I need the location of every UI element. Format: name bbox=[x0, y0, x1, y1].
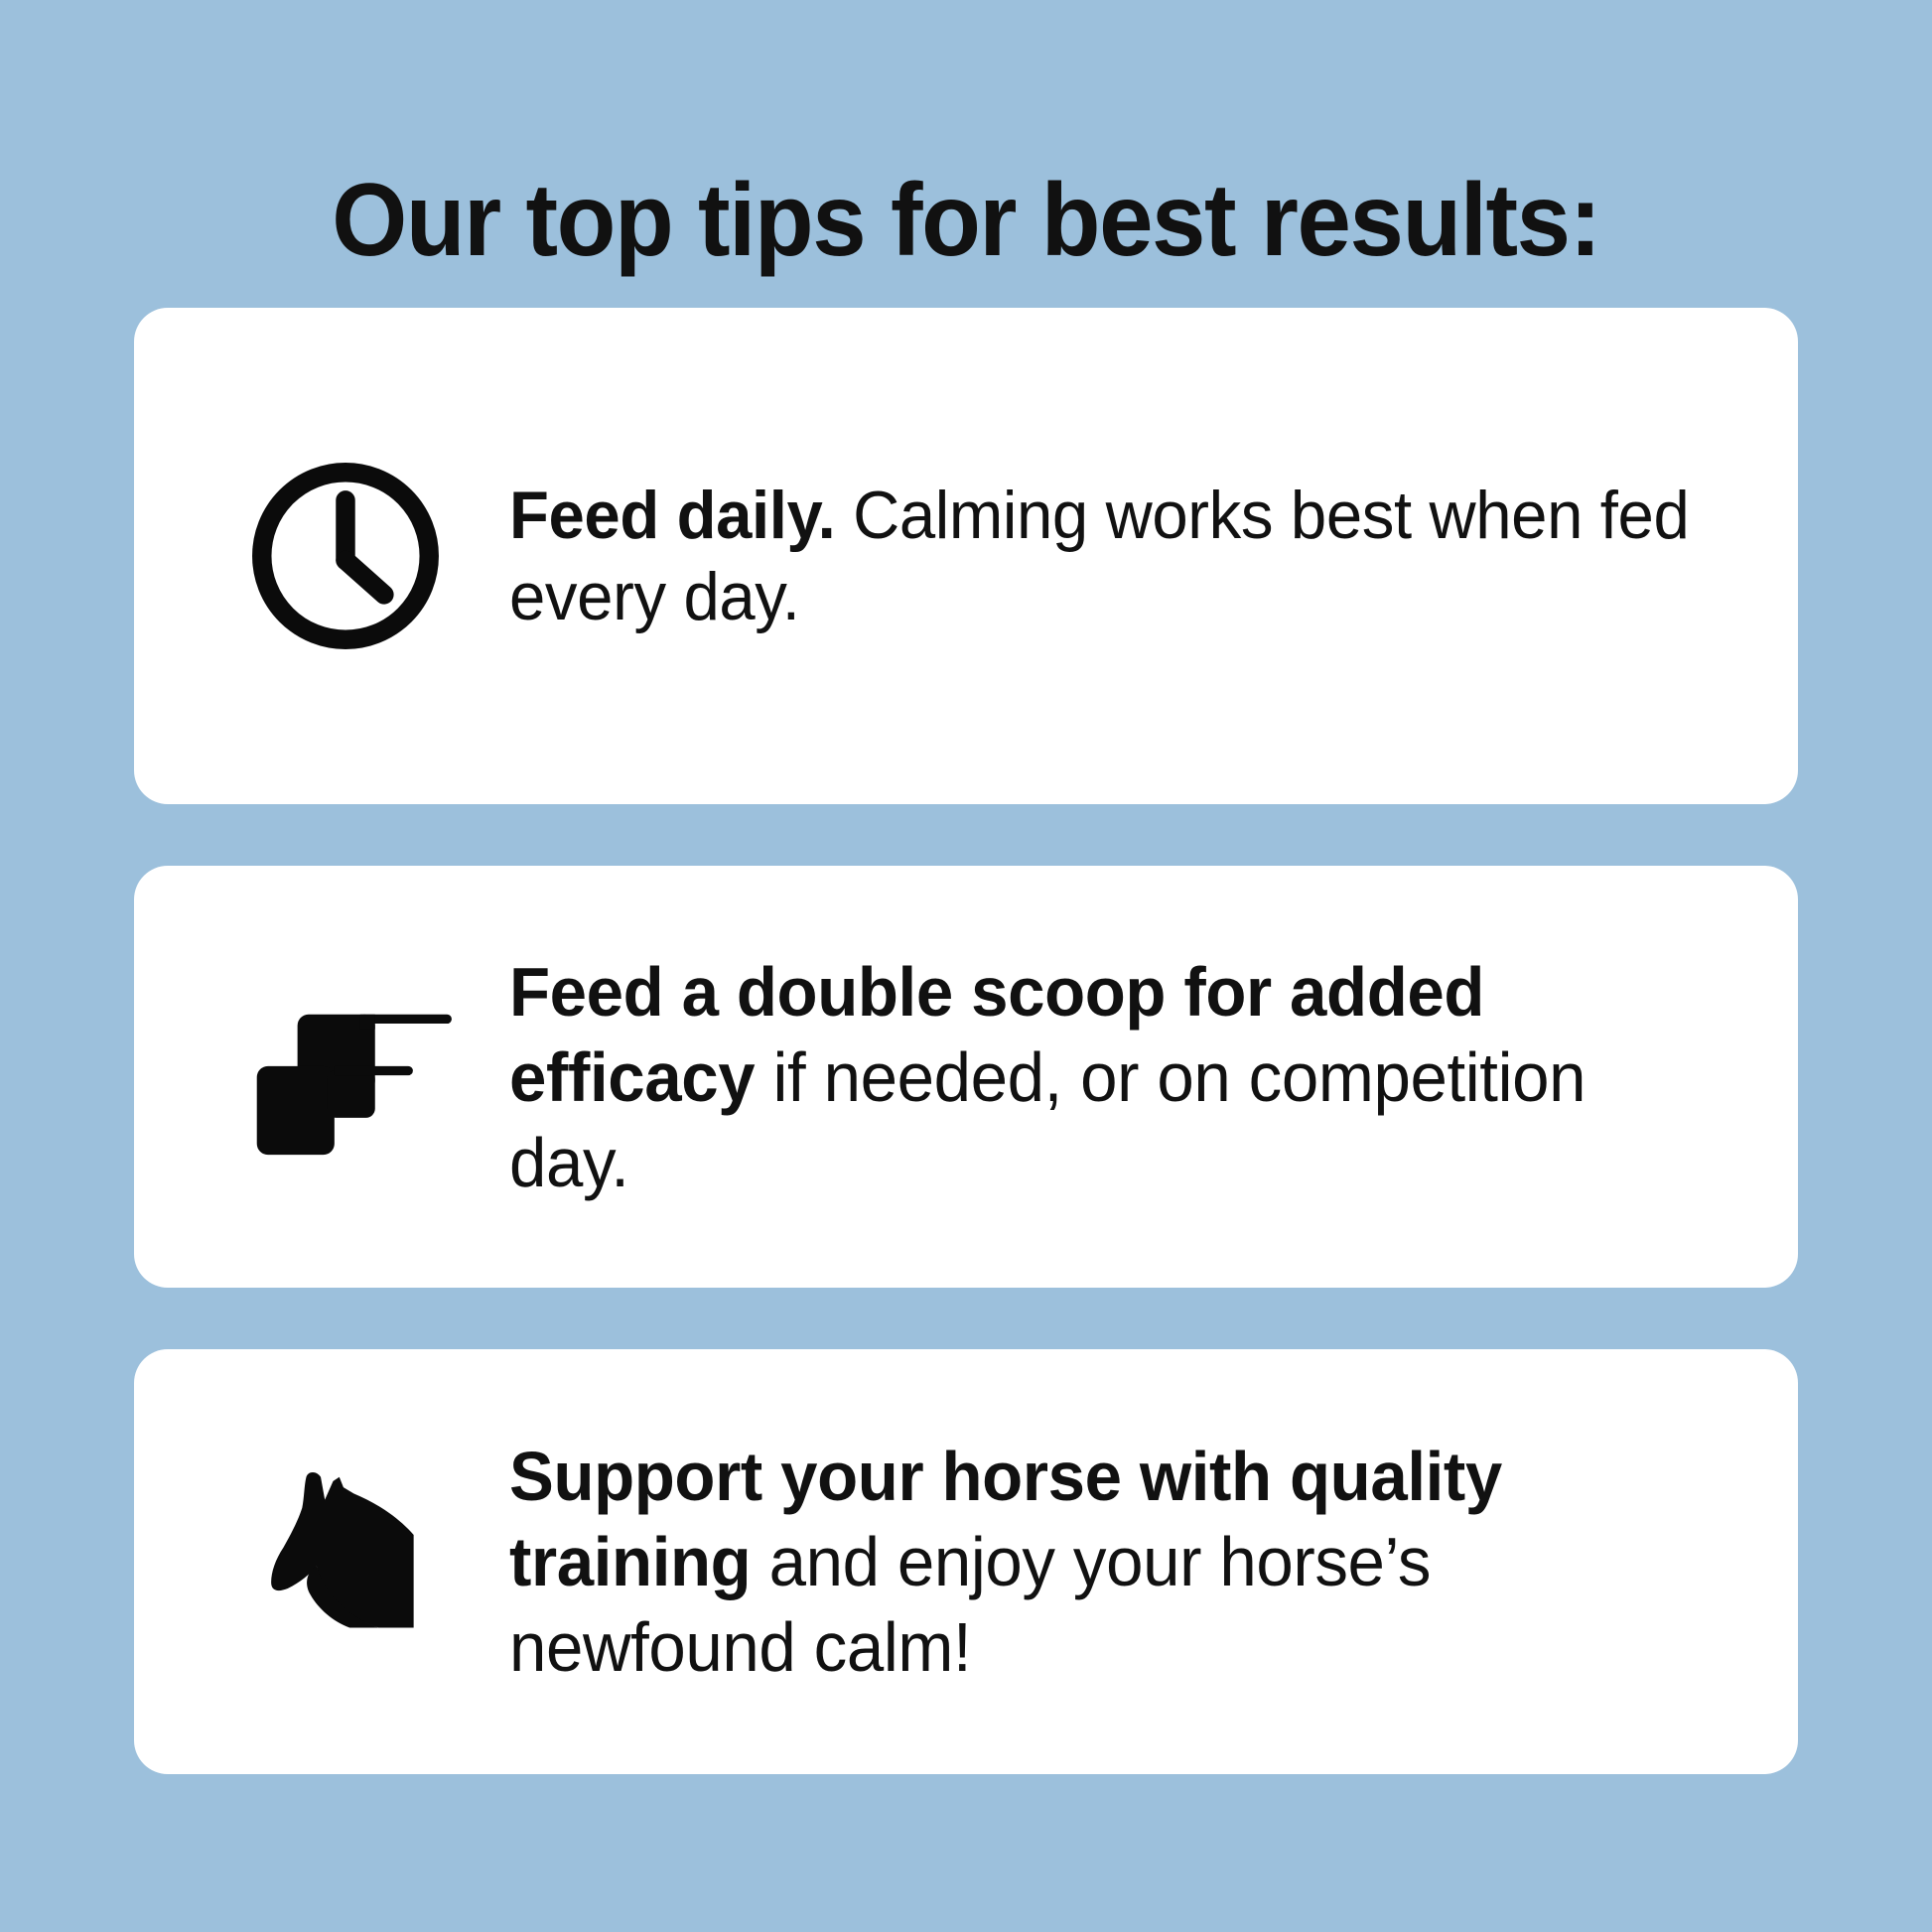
page-title: Our top tips for best results: bbox=[58, 165, 1873, 276]
horse-head-icon bbox=[182, 1458, 509, 1665]
promo-graphic: Our top tips for best results: Feed dail… bbox=[0, 0, 1932, 1932]
tip-card-feed-daily: Feed daily. Calming works best when fed … bbox=[134, 308, 1798, 804]
clock-icon bbox=[182, 449, 509, 663]
tip-card-double-scoop: Feed a double scoop for added efficacy i… bbox=[134, 866, 1798, 1288]
tips-card-list: Feed daily. Calming works best when fed … bbox=[134, 308, 1798, 1774]
tip-card-text: Support your horse with quality training… bbox=[509, 1434, 1746, 1690]
tip-card-quality-training: Support your horse with quality training… bbox=[134, 1349, 1798, 1774]
tip-card-text: Feed daily. Calming works best when fed … bbox=[509, 475, 1746, 637]
tip-lead-text: Feed daily. bbox=[509, 478, 835, 553]
tip-card-text: Feed a double scoop for added efficacy i… bbox=[509, 949, 1746, 1205]
double-scoop-icon bbox=[182, 985, 509, 1170]
